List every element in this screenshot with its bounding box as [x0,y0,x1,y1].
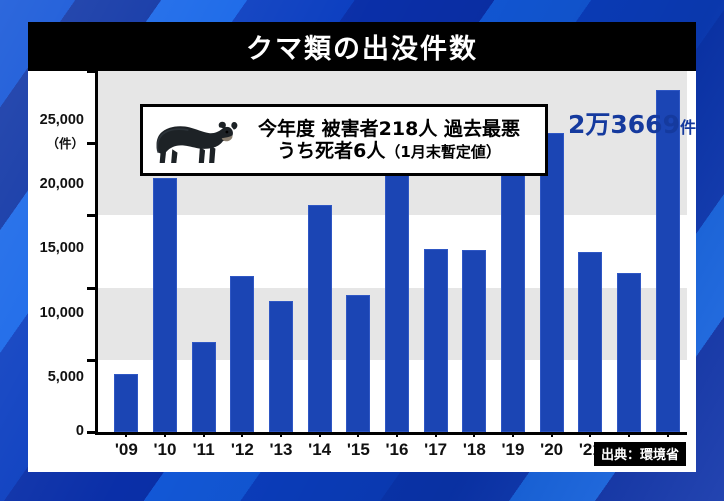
x-tick-label: '12 [223,440,262,460]
y-tick-label: 25,000 [40,112,84,128]
x-tick-mark [435,432,437,437]
x-axis-line [95,432,687,435]
x-tick-mark [396,432,398,437]
y-tick-mark [87,287,96,290]
source-label: 出典：環境省 [594,442,686,466]
y-tick-label: 5,000 [48,369,84,385]
y-tick-label: 15,000 [40,240,84,256]
bar [385,172,409,432]
bar [269,301,293,432]
bear-icon [147,111,239,169]
title-bar: クマ類の出没件数 [28,22,696,71]
x-tick-mark [319,432,321,437]
y-tick-mark [87,431,96,434]
x-tick-label: '11 [184,440,223,460]
bar [578,252,602,433]
callout-line-2: うち死者6人（1月末暫定値） [239,140,539,162]
y-tick-mark [87,70,96,73]
x-tick-mark [667,432,669,437]
x-tick-label: '10 [146,440,185,460]
y-axis-line [95,71,98,432]
y-tick-mark [87,214,96,217]
x-tick-label: '14 [300,440,339,460]
callout-text: 今年度 被害者218人 過去最悪 うち死者6人（1月末暫定値） [239,118,545,162]
x-tick-label: '13 [262,440,301,460]
x-tick-label: '09 [107,440,146,460]
callout-box: 今年度 被害者218人 過去最悪 うち死者6人（1月末暫定値） [140,104,548,176]
x-tick-label: '19 [494,440,533,460]
x-tick-mark [203,432,205,437]
highlight-annotation: 2万3669件 [568,105,696,141]
x-tick-mark [164,432,166,437]
x-tick-label: '18 [455,440,494,460]
bar [501,172,525,432]
bar [192,342,216,432]
callout-line-2-note: （1月末暫定値） [385,143,500,161]
bar [540,133,564,432]
y-tick-label: 20,000 [40,176,84,192]
x-tick-mark [125,432,127,437]
bar [346,295,370,432]
x-tick-mark [628,432,630,437]
x-tick-mark [589,432,591,437]
x-tick-label: '16 [378,440,417,460]
x-tick-mark [551,432,553,437]
y-axis-labels: 25,000 （件） 20,000 15,000 10,000 5,000 0 [28,71,90,472]
highlight-unit: 件 [680,118,696,137]
y-tick-label: 0 [76,423,84,439]
bar [230,276,254,432]
bar [617,273,641,432]
bar [114,374,138,432]
x-tick-mark [357,432,359,437]
x-tick-mark [280,432,282,437]
bar [153,178,177,432]
bar [656,90,680,432]
callout-line-1: 今年度 被害者218人 過去最悪 [239,118,539,140]
y-axis-unit: （件） [46,133,84,152]
callout-line-2-main: うち死者6人 [277,140,385,162]
y-tick-label: 10,000 [40,305,84,321]
infographic-card: クマ類の出没件数 25,000 （件） 20,000 15,000 10,000… [28,22,696,472]
y-tick-mark [87,142,96,145]
bar [308,205,332,432]
x-tick-label: '15 [339,440,378,460]
x-tick-label: '17 [416,440,455,460]
x-tick-mark [241,432,243,437]
page-title: クマ類の出没件数 [246,27,478,66]
y-tick-mark [87,359,96,362]
bar [462,250,486,432]
x-tick-label: '20 [532,440,571,460]
bar [424,249,448,432]
highlight-value: 2万3669 [568,110,680,139]
x-tick-mark [512,432,514,437]
x-tick-mark [473,432,475,437]
